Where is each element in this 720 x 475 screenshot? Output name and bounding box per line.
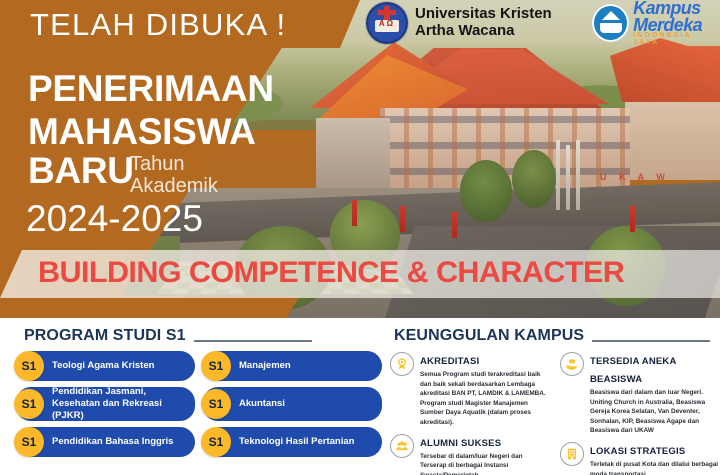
advantage-title: TERSEDIA ANEKA BEASISWA: [590, 356, 676, 385]
program-pill[interactable]: S1 Pendidikan Bahasa Inggris: [16, 427, 195, 457]
building-icon: [560, 442, 584, 466]
hero-headline-line-1: PENERIMAAN: [28, 70, 274, 107]
program-label: Pendidikan Jasmani, Kesehatan dan Rekrea…: [52, 386, 187, 422]
lower-section: PROGRAM STUDI S1 S1 Teologi Agama Kriste…: [0, 318, 720, 475]
advantage-title: ALUMNI SUKSES: [420, 438, 501, 449]
program-pill[interactable]: S1 Akuntansi: [203, 387, 382, 421]
poster-root: U K A W TELAH DIBUKA ! PENERIMAAN MAHASI…: [0, 0, 720, 475]
advantage-item: LOKASI STRATEGIS Terletak di pusat Kota …: [560, 441, 720, 475]
university-name-line-2: Artha Wacana: [415, 23, 552, 40]
kampus-merdeka-line-2: Merdeka: [633, 17, 720, 34]
hero-banner: U K A W TELAH DIBUKA ! PENERIMAAN MAHASI…: [0, 0, 720, 318]
kampus-merdeka-logo-block: Kampus Merdeka INDONESIA JAYA: [592, 0, 720, 46]
program-pill-column-left: S1 Teologi Agama Kristen S1 Pendidikan J…: [16, 351, 195, 457]
degree-badge: S1: [14, 351, 44, 381]
keunggulan-kampus-column: KEUNGGULAN KAMPUS AKREDITASI Semua Progr…: [386, 318, 720, 475]
advantage-text: ALUMNI SUKSES Tersebar di dalam/luar Neg…: [420, 433, 550, 475]
heading-rule: [592, 340, 710, 342]
hero-academic-year-label: Tahun Akademik: [130, 153, 218, 197]
hero-academic-year-label-2: Akademik: [130, 175, 218, 197]
degree-badge: S1: [201, 351, 231, 381]
ukaw-alpha-omega-letters: ΑΩ: [375, 19, 399, 28]
advantage-text: LOKASI STRATEGIS Terletak di pusat Kota …: [590, 441, 720, 475]
program-label: Teologi Agama Kristen: [52, 360, 154, 372]
hero-years: 2024-2025: [26, 198, 203, 240]
program-pill-grid: S1 Teologi Agama Kristen S1 Pendidikan J…: [16, 351, 382, 457]
hero-headline-line-2: MAHASISWA: [28, 113, 256, 150]
ukaw-crest-icon: ΑΩ: [366, 2, 408, 44]
tagline-text: BUILDING COMPETENCE & CHARACTER: [38, 256, 711, 290]
tutwuri-flame-icon: [602, 11, 620, 20]
program-studi-heading-text: PROGRAM STUDI S1: [24, 327, 186, 345]
degree-badge: S1: [201, 427, 231, 457]
kemendikbud-tutwuri-icon: [592, 4, 629, 42]
program-label: Pendidikan Bahasa Inggris: [52, 436, 173, 448]
advantage-title: AKREDITASI: [420, 356, 479, 367]
program-label: Akuntansi: [239, 398, 285, 410]
graduates-group-icon: [390, 434, 414, 458]
keunggulan-heading: KEUNGGULAN KAMPUS: [394, 327, 720, 345]
advantage-grid: AKREDITASI Semua Program studi terakredi…: [390, 351, 720, 475]
program-pill-column-right: S1 Manajemen S1 Akuntansi S1 Teknologi H…: [203, 351, 382, 457]
advantage-title: LOKASI STRATEGIS: [590, 446, 685, 457]
advantage-column-right: TERSEDIA ANEKA BEASISWA Beasiswa dari da…: [560, 351, 720, 475]
advantage-body: Tersebar di dalam/luar Negeri dan Terser…: [420, 452, 550, 475]
program-studi-heading: PROGRAM STUDI S1: [24, 327, 382, 345]
program-studi-column: PROGRAM STUDI S1 S1 Teologi Agama Kriste…: [16, 318, 382, 457]
cross-horizontal-icon: [378, 10, 396, 15]
program-pill[interactable]: S1 Pendidikan Jasmani, Kesehatan dan Rek…: [16, 387, 195, 421]
heading-rule: [194, 340, 312, 342]
keunggulan-heading-text: KEUNGGULAN KAMPUS: [394, 327, 584, 345]
university-name: Universitas Kristen Artha Wacana: [415, 6, 552, 40]
program-pill[interactable]: S1 Teologi Agama Kristen: [16, 351, 195, 381]
advantage-item: AKREDITASI Semua Program studi terakredi…: [390, 351, 550, 428]
program-label: Teknologi Hasil Pertanian: [239, 436, 354, 448]
award-ribbon-icon: [390, 352, 414, 376]
degree-badge: S1: [14, 389, 44, 419]
hand-money-icon: [560, 352, 584, 376]
degree-badge: S1: [201, 389, 231, 419]
degree-badge: S1: [14, 427, 44, 457]
hero-kicker: TELAH DIBUKA !: [30, 9, 286, 40]
advantage-column-left: AKREDITASI Semua Program studi terakredi…: [390, 351, 550, 475]
advantage-body: Terletak di pusat Kota dan dilalui berba…: [590, 460, 720, 475]
advantage-text: TERSEDIA ANEKA BEASISWA Beasiswa dari da…: [590, 351, 720, 436]
advantage-item: TERSEDIA ANEKA BEASISWA Beasiswa dari da…: [560, 351, 720, 436]
hero-academic-year-label-1: Tahun: [130, 153, 218, 175]
advantage-body: Beasiswa dari dalam dan luar Negeri. Uni…: [590, 388, 720, 436]
advantage-text: AKREDITASI Semua Program studi terakredi…: [420, 351, 550, 428]
university-name-line-1: Universitas Kristen: [415, 6, 552, 23]
program-label: Manajemen: [239, 360, 291, 372]
program-pill[interactable]: S1 Manajemen: [203, 351, 382, 381]
program-pill[interactable]: S1 Teknologi Hasil Pertanian: [203, 427, 382, 457]
ukaw-logo-block: ΑΩ Universitas Kristen Artha Wacana: [366, 2, 552, 44]
hero-headline-line-3: BARU: [28, 152, 134, 189]
kampus-merdeka-line-3: INDONESIA JAYA: [633, 33, 720, 46]
advantage-body: Semua Program studi terakreditasi baik d…: [420, 370, 550, 428]
tutwuri-book-icon: [600, 23, 622, 33]
advantage-item: ALUMNI SUKSES Tersebar di dalam/luar Neg…: [390, 433, 550, 475]
kampus-merdeka-wordmark: Kampus Merdeka INDONESIA JAYA: [633, 0, 720, 46]
